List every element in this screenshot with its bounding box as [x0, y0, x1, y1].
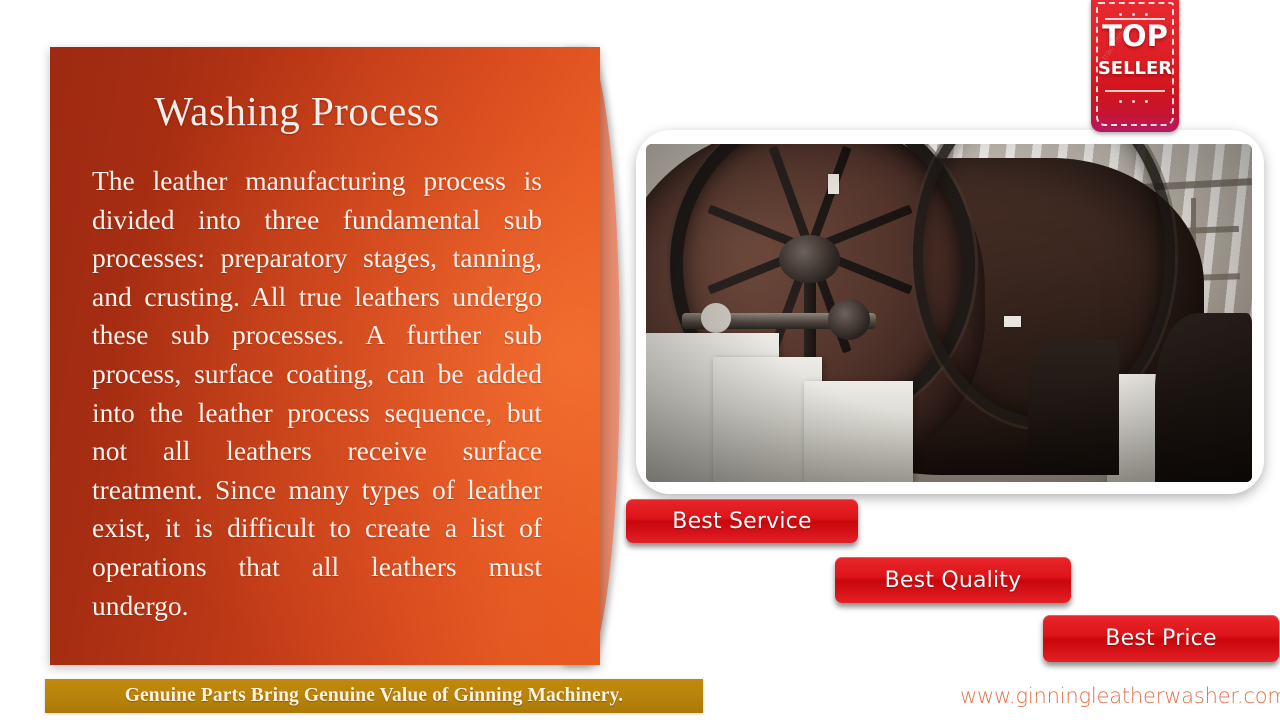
photo-frame — [636, 130, 1264, 494]
content-panel: Washing Process The leather manufacturin… — [50, 47, 610, 665]
website-url[interactable]: www.ginningleatherwasher.com — [960, 684, 1280, 708]
badge-line-seller: SELLER — [1091, 60, 1179, 78]
slide-canvas: Washing Process The leather manufacturin… — [0, 0, 1280, 720]
tagline-bar: Genuine Parts Bring Genuine Value of Gin… — [45, 679, 703, 713]
panel-body-text: The leather manufacturing process is div… — [92, 162, 542, 625]
panel-inner: Washing Process The leather manufacturin… — [50, 47, 600, 665]
photo-vignette — [646, 144, 1252, 482]
tagline-text: Genuine Parts Bring Genuine Value of Gin… — [125, 685, 623, 707]
panel-background: Washing Process The leather manufacturin… — [50, 47, 600, 665]
page-title: Washing Process — [72, 87, 522, 135]
top-seller-badge: • • • TOP SELLER • • • tradeindia — [1091, 0, 1179, 132]
best-quality-button[interactable]: Best Quality — [835, 557, 1071, 603]
badge-line-top: TOP — [1091, 22, 1179, 51]
best-price-button[interactable]: Best Price — [1043, 615, 1279, 662]
best-service-button[interactable]: Best Service — [626, 499, 858, 543]
badge-rule-bottom — [1105, 90, 1165, 92]
machine-photo — [646, 144, 1252, 482]
badge-dots-bottom: • • • — [1091, 97, 1179, 108]
